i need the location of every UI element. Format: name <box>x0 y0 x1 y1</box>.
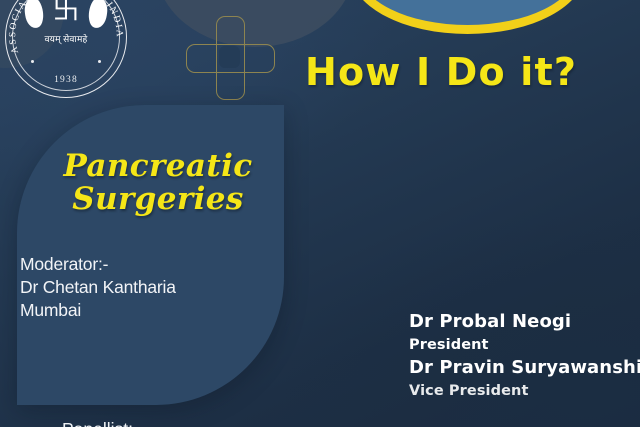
moderator-block: Moderator:- Dr Chetan Kantharia Mumbai <box>20 253 270 322</box>
logo-year-text: 1938 <box>5 75 127 85</box>
official-row: Dr Probal Neogi President <box>409 310 637 356</box>
logo-dot-left <box>31 60 34 63</box>
moderator-name: Dr Chetan Kantharia <box>20 276 270 299</box>
session-title-line-2: Surgeries <box>38 183 278 216</box>
conference-poster: ASSOCIATION OF INDIA 卐 वयम् सेवामहे 1938… <box>0 0 640 427</box>
panellist-label: Panellist:- <box>62 418 139 427</box>
official-role: President <box>409 334 637 356</box>
session-title-line-1: Pancreatic <box>63 148 252 184</box>
moderator-label: Moderator:- <box>20 253 270 276</box>
official-role: Vice President <box>409 380 637 402</box>
logo-dot-right <box>98 60 101 63</box>
logo-emblem-glyph: 卐 <box>5 0 127 26</box>
logo-motto-text: वयम् सेवामहे <box>5 32 127 45</box>
association-logo: ASSOCIATION OF INDIA 卐 वयम् सेवामहे 1938 <box>5 0 127 98</box>
official-row: Dr Pravin Suryawanshi Vice President <box>409 356 637 402</box>
headline-how-i-do-it: How I Do it? <box>305 50 577 94</box>
official-name: Dr Probal Neogi <box>409 310 637 334</box>
session-title: Pancreatic Surgeries <box>38 150 278 216</box>
official-name: Dr Pravin Suryawanshi <box>409 356 637 380</box>
medical-cross-center-mask <box>219 46 240 68</box>
medical-cross-icon <box>186 16 275 100</box>
officials-list: Dr Probal Neogi President Dr Pravin Sury… <box>409 310 637 402</box>
decorative-dome-shape <box>350 0 585 34</box>
moderator-city: Mumbai <box>20 299 270 322</box>
